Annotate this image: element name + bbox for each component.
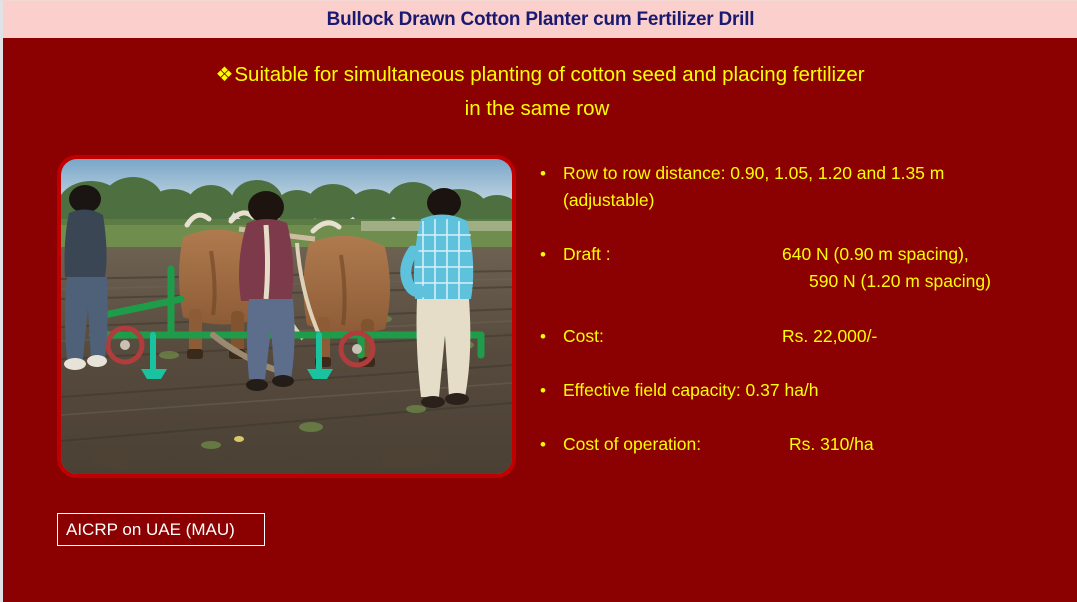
subtitle-line-1: ❖Suitable for simultaneous planting of c… <box>60 58 1020 92</box>
spec-value-cost-of-operation: Rs. 310/ha <box>789 431 874 458</box>
spec-label-field-capacity: Effective field capacity: 0.37 ha/h <box>563 377 819 404</box>
spec-item-draft: • Draft : 640 N (0.90 m spacing), 590 N … <box>536 241 1066 295</box>
spec-item-cost-of-operation: • Cost of operation: Rs. 310/ha <box>536 431 1066 458</box>
spec-continuation-row-spacing: (adjustable) <box>563 187 1066 214</box>
spec-item-field-capacity: • Effective field capacity: 0.37 ha/h <box>536 377 1066 404</box>
implement-photo-frame <box>57 155 516 478</box>
spec-label-cost: Cost: <box>563 323 782 350</box>
subtitle-line-2: in the same row <box>60 92 1020 125</box>
implement-photo <box>61 159 512 474</box>
spec-value-cost: Rs. 22,000/- <box>782 323 877 350</box>
subtitle-block: ❖Suitable for simultaneous planting of c… <box>60 58 1020 125</box>
slide-title-bar: Bullock Drawn Cotton Planter cum Fertili… <box>0 0 1077 38</box>
spec-label-row-spacing: Row to row distance: 0.90, 1.05, 1.20 an… <box>563 160 944 187</box>
spec-item-row-spacing: • Row to row distance: 0.90, 1.05, 1.20 … <box>536 160 1066 214</box>
slide-left-edge <box>0 0 3 602</box>
slide-title: Bullock Drawn Cotton Planter cum Fertili… <box>326 8 754 31</box>
bullet-dot-icon: • <box>540 241 546 268</box>
implement-photo-image <box>61 159 512 474</box>
subtitle-line-1-text: Suitable for simultaneous planting of co… <box>234 63 864 86</box>
bullet-dot-icon: • <box>540 377 546 404</box>
photo-caption-box: AICRP on UAE (MAU) <box>57 513 265 546</box>
spec-value-draft: 640 N (0.90 m spacing), <box>782 241 969 268</box>
diamond-bullet-icon: ❖ <box>215 64 233 86</box>
bullet-dot-icon: • <box>540 431 546 458</box>
specs-list: • Row to row distance: 0.90, 1.05, 1.20 … <box>536 160 1066 458</box>
spec-item-cost: • Cost: Rs. 22,000/- <box>536 323 1066 350</box>
spec-label-cost-of-operation: Cost of operation: <box>563 431 789 458</box>
bullet-dot-icon: • <box>540 160 546 187</box>
spec-value2-draft: 590 N (1.20 m spacing) <box>809 268 1066 295</box>
bullet-dot-icon: • <box>540 323 546 350</box>
slide-canvas: Bullock Drawn Cotton Planter cum Fertili… <box>0 0 1077 602</box>
spec-label-draft: Draft : <box>563 241 782 268</box>
photo-caption-text: AICRP on UAE (MAU) <box>66 520 235 540</box>
